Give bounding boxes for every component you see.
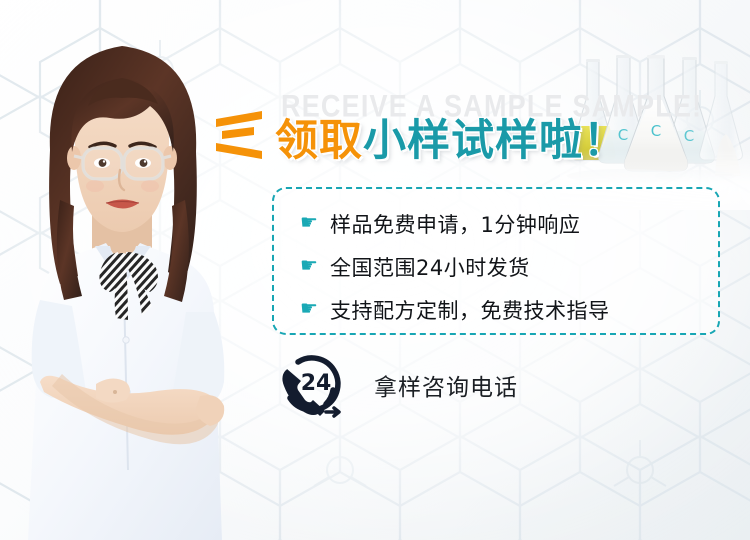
pointing-hand-icon: ☛ xyxy=(300,299,330,319)
phone-24h-icon: 24 xyxy=(276,348,350,422)
headline-part1: 领取 xyxy=(275,116,363,166)
contact-row: 24 拿样咨询电话 xyxy=(276,348,518,422)
svg-text:C: C xyxy=(651,122,661,140)
feature-item: ☛ 样品免费申请，1分钟响应 xyxy=(300,203,718,244)
feature-item-label: 全国范围24小时发货 xyxy=(330,252,530,282)
feature-item: ☛ 全国范围24小时发货 xyxy=(300,246,718,287)
feature-item-label: 样品免费申请，1分钟响应 xyxy=(330,209,580,239)
feature-item-label: 支持配方定制，免费技术指导 xyxy=(330,295,610,325)
headline-title: 领取小样试样啦！ xyxy=(275,106,627,168)
pointing-hand-icon: ☛ xyxy=(300,213,330,233)
feature-box: ☛ 样品免费申请，1分钟响应 ☛ 全国范围24小时发货 ☛ 支持配方定制，免费技… xyxy=(272,187,720,335)
promo-banner: C C C xyxy=(0,0,750,540)
contact-label: 拿样咨询电话 xyxy=(374,368,518,402)
feature-list: ☛ 样品免费申请，1分钟响应 ☛ 全国范围24小时发货 ☛ 支持配方定制，免费技… xyxy=(274,189,718,332)
presenter-photo xyxy=(0,0,265,540)
pointing-hand-icon: ☛ xyxy=(300,256,330,276)
triple-chevron-right-icon xyxy=(213,111,265,159)
svg-text:C: C xyxy=(684,127,694,145)
headline-part2: 小样试样啦！ xyxy=(363,116,627,166)
phone-24-badge: 24 xyxy=(301,371,332,396)
feature-item: ☛ 支持配方定制，免费技术指导 xyxy=(300,289,718,330)
